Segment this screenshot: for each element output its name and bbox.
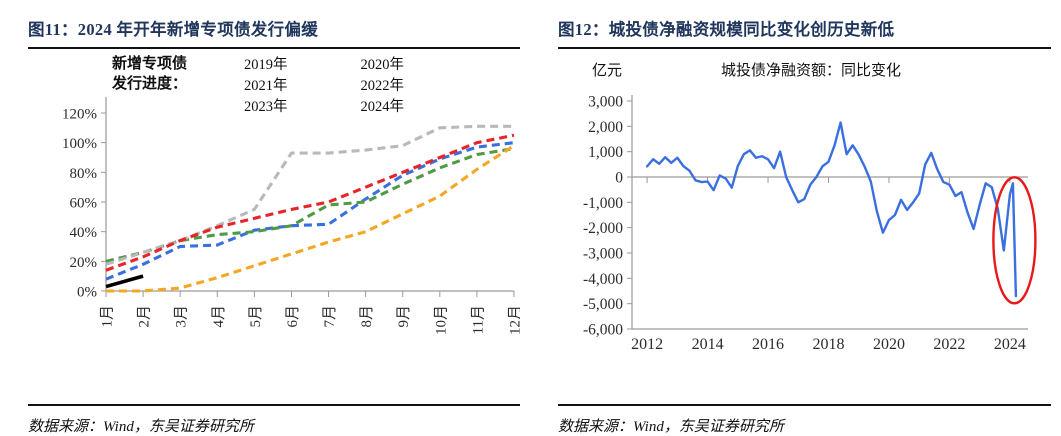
x-axis-tick-label: 12月 — [508, 305, 521, 335]
x-axis-tick-label: 2018 — [812, 336, 844, 351]
y-axis-tick-label: 60% — [70, 196, 98, 212]
y-axis-tick-label: -6,000 — [583, 322, 623, 339]
figure-11-source: 数据来源：Wind，东吴证券研究所 — [28, 406, 520, 436]
y-axis-tick-label: 1,000 — [588, 144, 623, 161]
x-axis-tick-label: 6月 — [285, 305, 301, 328]
series-line-2021年 — [106, 146, 514, 291]
y-axis-tick-label: 80% — [70, 166, 98, 182]
figure-panel-12: 图12：城投债净融资规模同比变化创历史新低 亿元 城投债净融资额：同比变化 3,… — [530, 0, 1061, 436]
y-axis-tick-label: -4,000 — [583, 271, 623, 288]
figure-11-chart-area: 新增专项债 发行进度： 2019年 2020年 — [28, 51, 520, 404]
y-axis-tick-label: -1,000 — [583, 195, 623, 212]
x-axis-tick-label: 2020 — [873, 336, 905, 351]
x-axis-tick-label: 2014 — [692, 336, 724, 351]
figure-panel-11: 图11：2024 年开年新增专项债发行偏缓 新增专项债 发行进度： 2019年 — [0, 0, 530, 436]
y-axis-tick-label: 120% — [62, 107, 97, 123]
y-axis-tick-label: 2,000 — [588, 119, 623, 136]
x-axis-tick-label: 9月 — [396, 305, 412, 328]
y-axis-tick-label: 3,000 — [588, 94, 623, 111]
x-axis-tick-label: 2月 — [137, 305, 153, 328]
figure-11-top-rule — [28, 47, 520, 49]
series-line-net-financing — [647, 123, 1016, 297]
x-axis-tick-label: 10月 — [433, 305, 449, 335]
x-axis-tick-label: 7月 — [322, 305, 338, 328]
y-axis-tick-label: -3,000 — [583, 246, 623, 263]
x-axis-tick-label: 2016 — [752, 336, 784, 351]
y-axis-tick-label: -2,000 — [583, 220, 623, 237]
x-axis-tick-label: 2022 — [933, 336, 965, 351]
x-axis-tick-label: 5月 — [248, 305, 264, 328]
figure-12-title: 图12：城投债净融资规模同比变化创历史新低 — [558, 0, 1051, 47]
y-axis-tick-label: 0% — [77, 285, 97, 301]
x-axis-tick-label: 2012 — [631, 336, 663, 351]
x-axis-tick-label: 4月 — [211, 305, 227, 328]
figure-12-plot: 3,0002,0001,0000-1,000-2,000-3,000-4,000… — [558, 51, 1050, 351]
y-axis-tick-label: 100% — [62, 136, 97, 152]
y-axis-tick-label: 0 — [615, 170, 623, 187]
x-axis-tick-label: 2024 — [994, 336, 1026, 351]
x-axis-tick-label: 3月 — [174, 305, 190, 328]
x-axis-tick-label: 11月 — [470, 305, 486, 334]
figure-12-source: 数据来源：Wind，东吴证券研究所 — [558, 406, 1051, 436]
x-axis-tick-label: 8月 — [359, 305, 375, 328]
y-axis-tick-label: 20% — [70, 255, 98, 271]
figure-11-title: 图11：2024 年开年新增专项债发行偏缓 — [28, 0, 520, 47]
figure-12-chart-area: 亿元 城投债净融资额：同比变化 3,0002,0001,0000-1,000-2… — [558, 51, 1051, 404]
series-line-2023年 — [106, 135, 514, 270]
figure-11-plot: 0%20%40%60%80%100%120%1月2月3月4月5月6月7月8月9月… — [28, 51, 520, 351]
y-axis-tick-label: 40% — [70, 225, 98, 241]
y-axis-tick-label: -5,000 — [583, 296, 623, 313]
x-axis-tick-label: 1月 — [100, 305, 116, 328]
figure-12-top-rule — [558, 47, 1051, 49]
figure-page: 图11：2024 年开年新增专项债发行偏缓 新增专项债 发行进度： 2019年 — [0, 0, 1061, 436]
series-line-2022年 — [106, 126, 514, 264]
